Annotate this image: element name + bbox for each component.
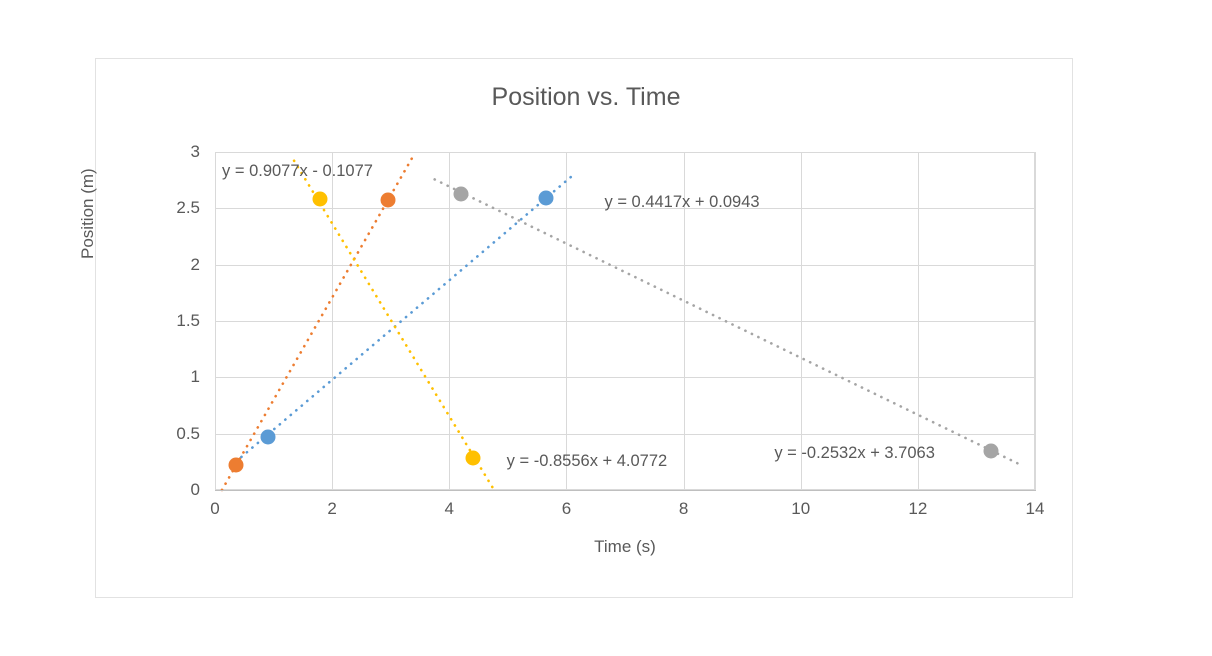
data-point <box>380 193 395 208</box>
x-tick-label: 14 <box>1026 499 1045 519</box>
data-point <box>313 192 328 207</box>
data-point <box>454 186 469 201</box>
screenshot-root: Position vs. Time 02468101214 00.511.522… <box>0 0 1212 656</box>
data-point <box>984 443 999 458</box>
data-point <box>538 191 553 206</box>
data-point <box>260 430 275 445</box>
trendline-equation-label: y = 0.9077x - 0.1077 <box>222 162 373 181</box>
chart-title: Position vs. Time <box>196 83 976 112</box>
x-tick-label: 6 <box>562 499 571 519</box>
y-tick-label: 2 <box>96 255 200 275</box>
chart-card: Position vs. Time 02468101214 00.511.522… <box>95 58 1073 598</box>
x-tick-label: 2 <box>327 499 336 519</box>
x-axis-line <box>215 490 1036 491</box>
data-point <box>465 451 480 466</box>
x-tick-label: 10 <box>791 499 810 519</box>
trendline <box>435 179 1018 463</box>
x-tick-label: 8 <box>679 499 688 519</box>
trendline <box>241 176 572 457</box>
x-tick-label: 12 <box>908 499 927 519</box>
x-tick-label: 0 <box>210 499 219 519</box>
x-tick-label: 4 <box>445 499 454 519</box>
gridline-vertical <box>1035 152 1036 490</box>
trendline-equation-label: y = -0.2532x + 3.7063 <box>774 444 935 463</box>
y-tick-label: 3 <box>96 142 200 162</box>
chart-title-wrapper: Position vs. Time <box>196 83 976 112</box>
trendline-equation-label: y = -0.8556x + 4.0772 <box>507 452 668 471</box>
trendline <box>294 161 494 490</box>
y-tick-label: 0 <box>96 480 200 500</box>
y-tick-label: 2.5 <box>96 198 200 218</box>
y-tick-label: 0.5 <box>96 424 200 444</box>
y-axis-title: Position (m) <box>78 168 98 259</box>
y-tick-label: 1.5 <box>96 311 200 331</box>
y-tick-label: 1 <box>96 367 200 387</box>
x-axis-title: Time (s) <box>215 537 1035 557</box>
trendline-equation-label: y = 0.4417x + 0.0943 <box>605 193 760 212</box>
data-point <box>228 458 243 473</box>
